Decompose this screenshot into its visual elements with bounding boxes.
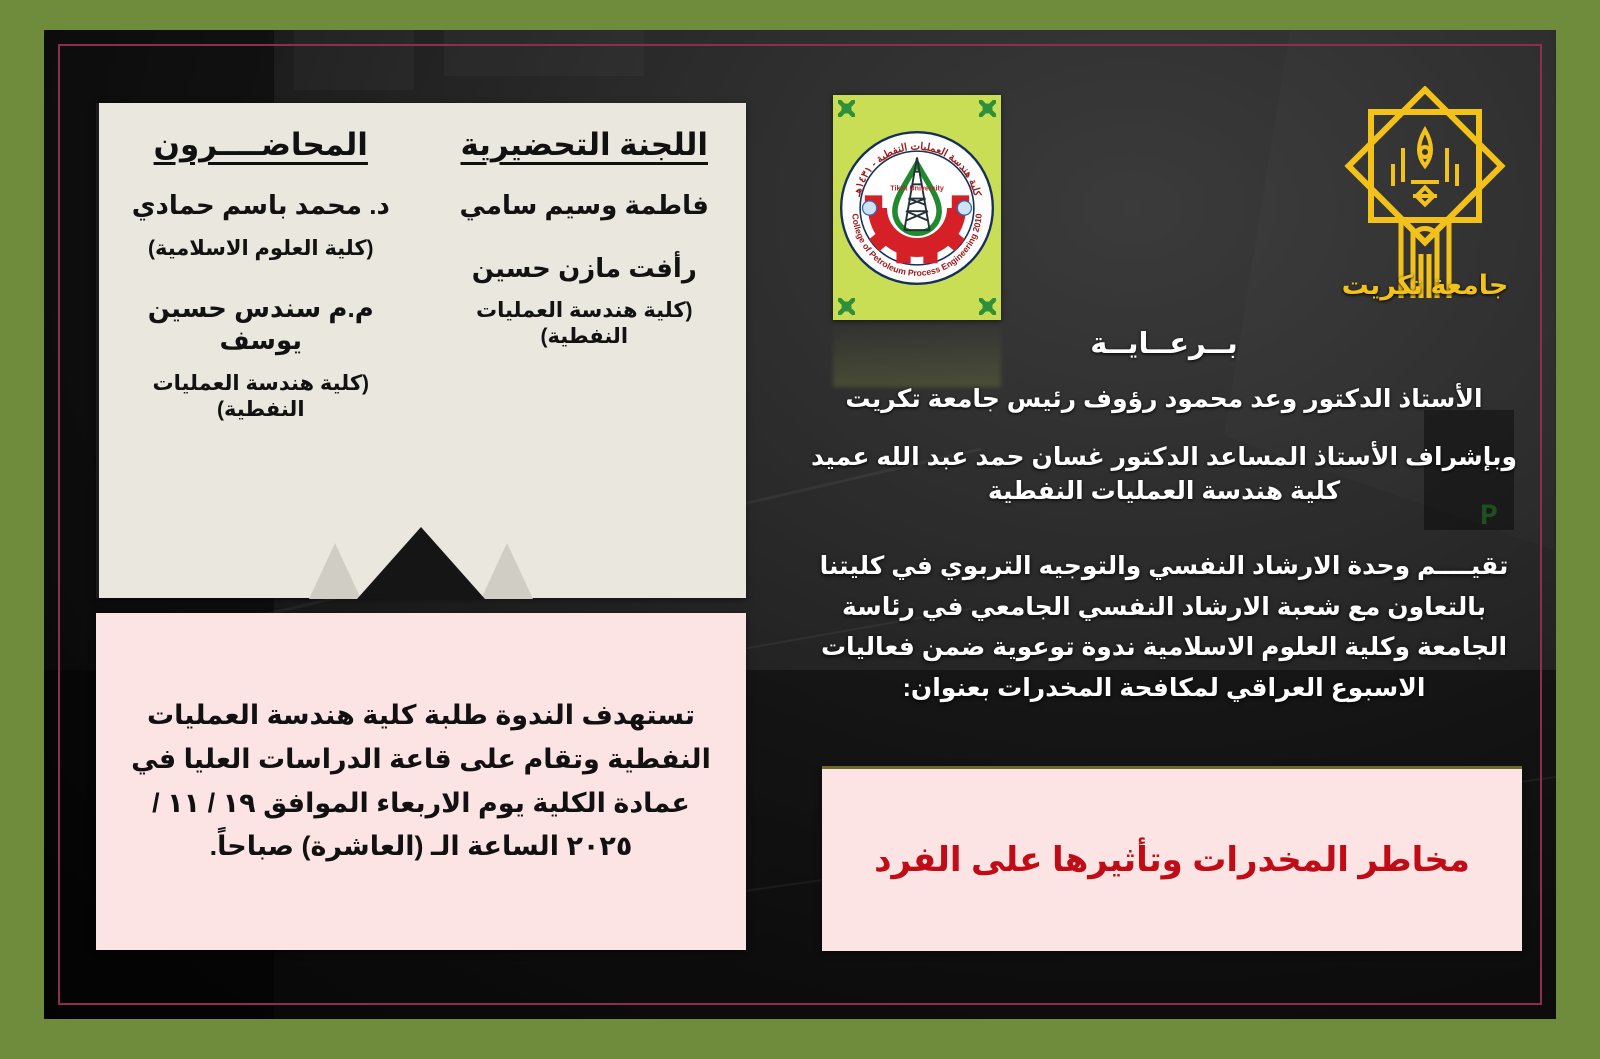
lecturer-affiliation: (كلية هندسة العمليات النفطية)	[115, 371, 407, 424]
lecturers-heading: المحاضــــرون	[115, 127, 407, 163]
committee-column: اللجنة التحضيرية فاطمة وسيم سامي رأفت ما…	[423, 103, 747, 598]
pedestal-wing-left	[309, 543, 361, 599]
lecturer-affiliation: (كلية العلوم الاسلامية)	[115, 236, 407, 262]
event-details-text: تستهدف الندوة طلبة كلية هندسة العمليات ا…	[130, 694, 712, 869]
college-seal-icon: كلية هندسة العمليات النفطية - ١٤٣١هـ Col…	[838, 108, 996, 308]
poster-stage: P المحاضــــرون د. محمد باسم حمادي (كلية…	[44, 30, 1556, 1019]
lecturer-name: م.م سندس حسين يوسف	[115, 292, 407, 357]
participants-panel: المحاضــــرون د. محمد باسم حمادي (كلية ا…	[96, 103, 746, 598]
university-logo-label: جامعة تكريت	[1310, 270, 1540, 301]
poster-root: P المحاضــــرون د. محمد باسم حمادي (كلية…	[0, 0, 1600, 1059]
event-details-box: تستهدف الندوة طلبة كلية هندسة العمليات ا…	[96, 613, 746, 950]
svg-text:Tikrit University: Tikrit University	[890, 184, 944, 192]
seminar-title: مخاطر المخدرات وتأثيرها على الفرد	[874, 838, 1470, 882]
lecturer-name: د. محمد باسم حمادي	[115, 189, 407, 222]
supervisor-line: وبإشراف الأستاذ المساعد الدكتور غسان حمد…	[804, 441, 1524, 509]
committee-member-affiliation: (كلية هندسة العمليات النفطية)	[439, 298, 731, 351]
lecturers-column: المحاضــــرون د. محمد باسم حمادي (كلية ا…	[96, 103, 423, 598]
bg-shape-2	[444, 30, 644, 76]
committee-member-name: رأفت مازن حسين	[439, 252, 731, 285]
seminar-title-box: مخاطر المخدرات وتأثيرها على الفرد	[822, 766, 1522, 951]
pen-nib-shape	[357, 527, 485, 599]
bg-shape-1	[294, 30, 414, 90]
committee-heading: اللجنة التحضيرية	[439, 127, 731, 163]
college-logo: كلية هندسة العمليات النفطية - ١٤٣١هـ Col…	[833, 95, 1001, 320]
college-logo-reflection	[833, 321, 1001, 387]
patron-line: الأستاذ الدكتور وعد محمود رؤوف رئيس جامع…	[804, 383, 1524, 417]
committee-member-name: فاطمة وسيم سامي	[439, 189, 731, 222]
organizer-paragraph: تقيــــم وحدة الارشاد النفسي والتوجيه ال…	[804, 546, 1524, 708]
pedestal-wing-right	[481, 543, 533, 599]
